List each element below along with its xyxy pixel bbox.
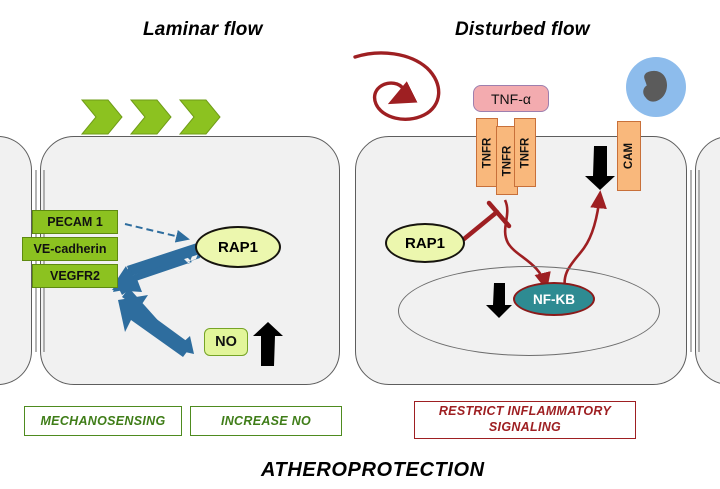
receptor-tnfr-1-label: TNFR [481, 137, 493, 168]
molecule-no[interactable]: NO [204, 328, 248, 356]
figure-bottom-title: ATHEROPROTECTION [261, 459, 485, 482]
receptor-tnfr-2-label: TNFR [501, 145, 513, 176]
cytokine-tnf-alpha-label: TNF-α [491, 91, 531, 107]
receptor-ve-cadherin-label: VE-cadherin [34, 242, 107, 256]
outcome-increase-no: INCREASE NO [190, 406, 342, 436]
cytokine-tnf-alpha[interactable]: TNF-α [473, 85, 549, 112]
panel-title-disturbed: Disturbed flow [455, 19, 590, 41]
outcome-increase-no-label: INCREASE NO [221, 414, 311, 428]
disturbed-flow-spiral [355, 53, 439, 119]
receptor-tnfr-3[interactable]: TNFR [514, 118, 536, 187]
receptor-tnfr-3-label: TNFR [519, 137, 531, 168]
receptor-ve-cadherin[interactable]: VE-cadherin [22, 237, 118, 261]
leukocyte-cell[interactable] [626, 57, 686, 117]
leukocyte-nucleus-icon [626, 57, 686, 117]
receptor-pecam1-label: PECAM 1 [47, 215, 103, 229]
protein-rap1-right-label: RAP1 [405, 235, 445, 252]
endothelial-cell-right-partial [695, 136, 720, 385]
outcome-mechanosensing-label: MECHANOSENSING [40, 414, 165, 428]
adhesion-molecule-cam-label: CAM [623, 143, 635, 169]
adhesion-molecule-cam[interactable]: CAM [617, 121, 641, 191]
outcome-mechanosensing: MECHANOSENSING [24, 406, 182, 436]
protein-rap1-left-label: RAP1 [218, 239, 258, 256]
receptor-vegfr2-label: VEGFR2 [50, 269, 100, 283]
transcription-factor-nfkb-label: NF-KB [533, 292, 575, 307]
outcome-restrict-inflammatory-signaling: RESTRICT INFLAMMATORY SIGNALING [414, 401, 636, 439]
figure-canvas: Laminar flow PECAM 1 VE-cadherin VEGFR2 … [0, 0, 720, 489]
protein-rap1-left[interactable]: RAP1 [195, 226, 281, 268]
molecule-no-label: NO [215, 334, 237, 350]
receptor-tnfr-1[interactable]: TNFR [476, 118, 498, 187]
transcription-factor-nfkb[interactable]: NF-KB [513, 282, 595, 316]
receptor-vegfr2[interactable]: VEGFR2 [32, 264, 118, 288]
outcome-restrict-inflammatory-signaling-label: RESTRICT INFLAMMATORY SIGNALING [415, 404, 635, 435]
laminar-flow-chevrons [82, 100, 220, 134]
protein-rap1-right[interactable]: RAP1 [385, 223, 465, 263]
receptor-pecam1[interactable]: PECAM 1 [32, 210, 118, 234]
panel-title-laminar: Laminar flow [143, 19, 263, 41]
